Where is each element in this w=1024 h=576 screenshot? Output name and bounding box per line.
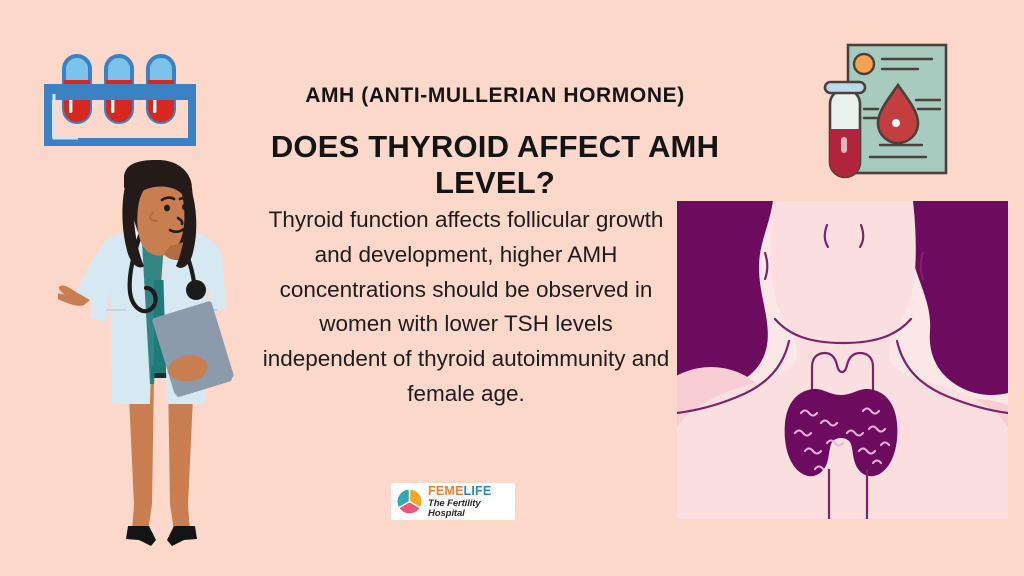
- femelife-tagline: The Fertility Hospital: [428, 499, 515, 518]
- body-paragraph: Thyroid function affects follicular grow…: [262, 203, 670, 412]
- logo-life: LIFE: [464, 484, 492, 498]
- stethoscope-chestpiece: [186, 280, 206, 300]
- blood-sample-vial: [825, 82, 865, 177]
- doctor-head: [122, 160, 196, 268]
- female-doctor-illustration: [58, 160, 258, 555]
- femelife-wordmark: FEMELIFE: [428, 485, 515, 498]
- femelife-logo[interactable]: FEMELIFE The Fertility Hospital: [391, 483, 515, 520]
- test-tube-rack-illustration: [40, 52, 202, 164]
- eyebrow-label: AMH (ANTI-MULLERIAN HORMONE): [233, 84, 757, 108]
- thyroid-anatomy-illustration: [677, 201, 1008, 519]
- doctor-clipboard: [152, 301, 235, 398]
- femelife-logo-text: FEMELIFE The Fertility Hospital: [428, 485, 515, 519]
- blood-report-illustration: [808, 33, 980, 185]
- report-status-dot: [854, 54, 874, 74]
- logo-feme: FEME: [428, 484, 464, 498]
- femelife-logo-mark: [396, 488, 423, 515]
- page-title: DOES THYROID AFFECT AMH LEVEL?: [225, 129, 765, 201]
- infographic-poster: AMH (ANTI-MULLERIAN HORMONE) DOES THYROI…: [0, 0, 1024, 576]
- doctor-shoes: [126, 526, 197, 546]
